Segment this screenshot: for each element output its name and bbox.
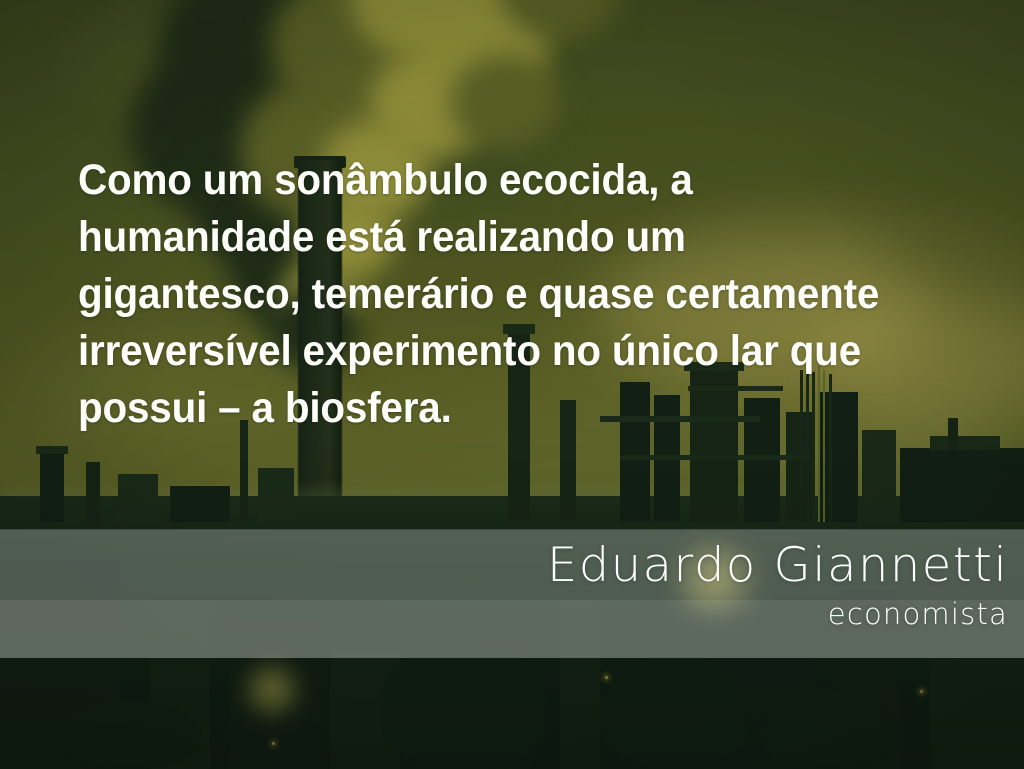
- attribution-band-top-edge: [0, 529, 1024, 530]
- author-name: Eduardo Giannetti: [547, 540, 1008, 592]
- quote-text: Como um sonâmbulo ecocida, a humanidade …: [78, 152, 924, 437]
- author-role: economista: [556, 595, 1008, 633]
- quote-card: Como um sonâmbulo ecocida, a humanidade …: [0, 0, 1024, 769]
- attribution: Eduardo Giannetti economista: [556, 540, 1008, 633]
